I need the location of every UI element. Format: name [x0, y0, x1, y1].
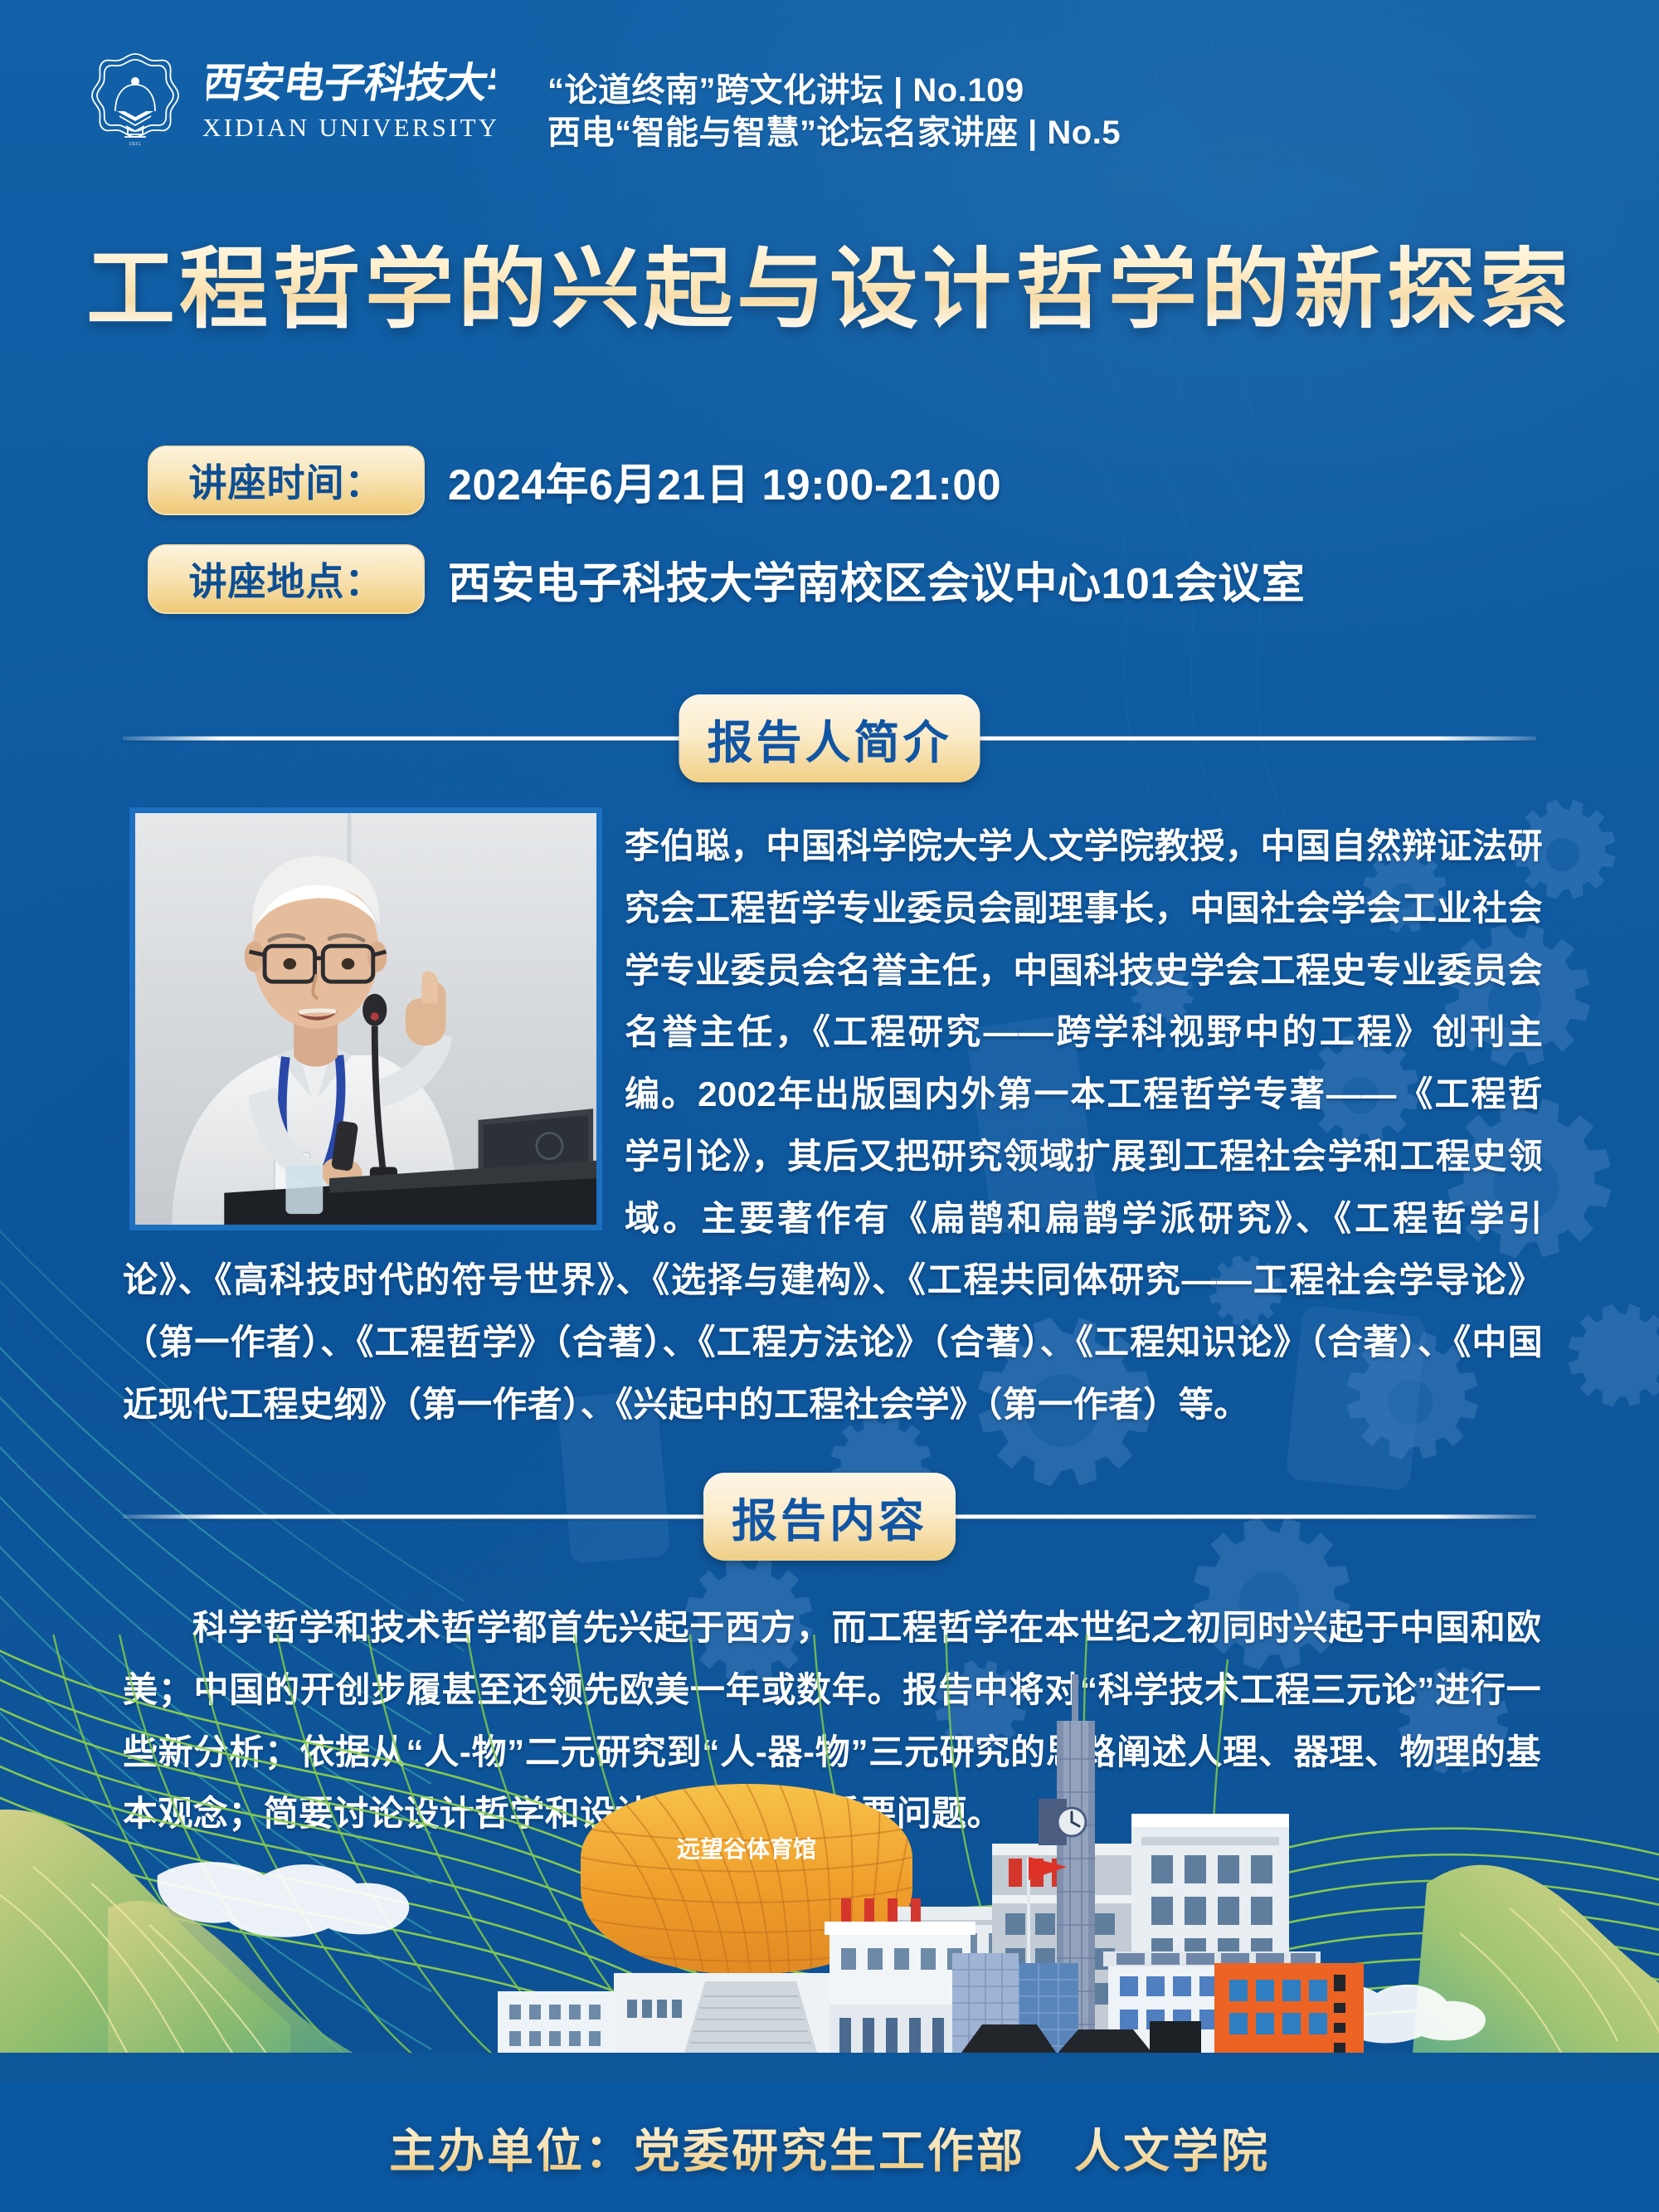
poster-header: 1931 西安电子科技大学 XIDIAN UNIVERSITY “论道终南”跨文… [0, 0, 1659, 178]
lecture-place-row: 讲座地点： 西安电子科技大学南校区会议中心101会议室 [148, 544, 1305, 614]
lecture-place-value: 西安电子科技大学南校区会议中心101会议室 [448, 548, 1305, 611]
bio-photo-wrap [123, 816, 625, 1193]
university-name-cn: 西安电子科技大学 [207, 58, 495, 107]
organizer-text: 主办单位：党委研究生工作部 人文学院 [389, 2114, 1270, 2181]
xidian-crest-icon: 1931 [90, 51, 181, 149]
lecture-time-row: 讲座时间： 2024年6月21日 19:00-21:00 [148, 446, 1305, 515]
svg-text:1931: 1931 [129, 142, 141, 147]
university-name-en: XIDIAN UNIVERSITY [202, 113, 499, 143]
university-logo: 1931 西安电子科技大学 XIDIAN UNIVERSITY [90, 51, 499, 149]
university-name-cn-calligraphy: 西安电子科技大学 [207, 58, 495, 108]
content-section-title: 报告内容 [703, 1473, 956, 1561]
stadium-label: 远望谷体育馆 [677, 1835, 816, 1863]
speaker-section-header: 报告人简介 [123, 690, 1536, 787]
series-line-2: 西电“智能与智慧”论坛名家讲座 | No.5 [547, 112, 1121, 154]
content-section-header: 报告内容 [123, 1469, 1536, 1565]
lecture-info: 讲座时间： 2024年6月21日 19:00-21:00 讲座地点： 西安电子科… [148, 446, 1305, 643]
poster-footer: 主办单位：党委研究生工作部 人文学院 [0, 2083, 1659, 2212]
campus-skyline-illustration: 远望谷体育馆 [0, 1635, 1659, 2083]
series-line-1: “论道终南”跨文化讲坛 | No.109 [547, 70, 1121, 112]
lecture-time-value: 2024年6月21日 19:00-21:00 [448, 450, 1001, 512]
lecture-series-lines: “论道终南”跨文化讲坛 | No.109 西电“智能与智慧”论坛名家讲座 | N… [547, 70, 1121, 154]
poster-root: 1931 西安电子科技大学 XIDIAN UNIVERSITY “论道终南”跨文… [0, 0, 1659, 2212]
poster-title: 工程哲学的兴起与设计哲学的新探索 [0, 245, 1659, 334]
speaker-section-title: 报告人简介 [679, 694, 980, 782]
speaker-bio: 李伯聪，中国科学院大学人文学院教授，中国自然辩证法研究会工程哲学专业委员会副理事… [123, 816, 1543, 1436]
lecture-time-label: 讲座时间： [148, 446, 425, 515]
lecture-place-label: 讲座地点： [148, 544, 425, 614]
